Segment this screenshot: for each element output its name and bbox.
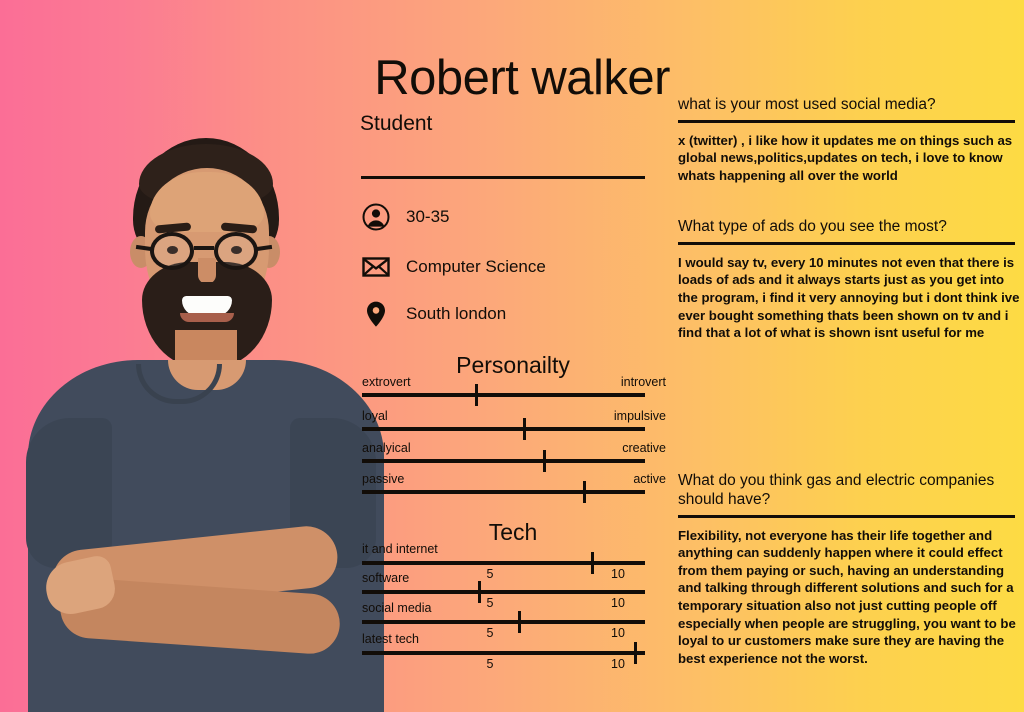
tech-mid-value: 5	[487, 657, 494, 671]
glasses-lens-left	[150, 232, 194, 270]
profile-role: Student	[360, 112, 432, 136]
question-block-utilities: What do you think gas and electric compa…	[678, 472, 1022, 667]
scale-track[interactable]	[362, 459, 645, 463]
scale-marker[interactable]	[523, 418, 526, 440]
detail-row-location: South london	[362, 300, 506, 328]
question-answer: I would say tv, every 10 minutes not eve…	[678, 254, 1022, 342]
tech-max-value: 10	[611, 626, 625, 640]
scale-right-label: creative	[622, 441, 666, 455]
scale-track[interactable]	[362, 393, 645, 397]
tech-max-value: 10	[611, 596, 625, 610]
scale-track[interactable]	[362, 490, 645, 494]
glasses-bridge	[194, 246, 214, 250]
mustache-shape	[180, 282, 234, 296]
scale-track[interactable]	[362, 590, 645, 594]
scale-track[interactable]	[362, 427, 645, 431]
scale-left-label: extrovert	[362, 375, 411, 389]
scale-right-label: introvert	[621, 375, 666, 389]
scale-right-label: active	[633, 472, 666, 486]
scale-marker[interactable]	[583, 481, 586, 503]
question-block-ads: What type of ads do you see the most? I …	[678, 218, 1022, 342]
detail-label-course: Computer Science	[406, 257, 546, 277]
scale-right-label: impulsive	[614, 409, 666, 423]
map-pin-icon	[362, 300, 390, 328]
scale-marker[interactable]	[543, 450, 546, 472]
portrait-photo	[0, 0, 400, 712]
tech-scale-label: social media	[362, 601, 431, 615]
tech-mid-value: 5	[487, 596, 494, 610]
nose-shape	[198, 258, 216, 284]
lower-lip-shape	[180, 313, 234, 322]
question-heading: What type of ads do you see the most?	[678, 218, 1022, 237]
question-divider	[678, 242, 1015, 245]
tech-mid-value: 5	[487, 567, 494, 581]
divider-under-name	[361, 176, 645, 179]
sleeve-left-shape	[26, 418, 112, 568]
person-illustration	[0, 0, 400, 712]
user-circle-icon	[362, 203, 390, 231]
question-heading: What do you think gas and electric compa…	[678, 472, 1022, 510]
tech-scale-numbers: 5 10	[362, 657, 645, 673]
question-divider	[678, 515, 1015, 518]
detail-row-age: 30-35	[362, 203, 449, 231]
question-block-social-media: what is your most used social media? x (…	[678, 96, 1022, 185]
tech-mid-value: 5	[487, 626, 494, 640]
envelope-icon	[362, 253, 390, 281]
detail-label-age: 30-35	[406, 207, 449, 227]
page-title: Robert walker	[360, 54, 670, 103]
question-divider	[678, 120, 1015, 123]
scale-left-label: loyal	[362, 409, 388, 423]
questions-column: what is your most used social media? x (…	[674, 0, 1024, 712]
glasses-lens-right	[214, 232, 258, 270]
tech-scale-label: latest tech	[362, 632, 419, 646]
tech-scale-label: it and internet	[362, 542, 438, 556]
profile-column: Robert walker Student 30-35 Computer Sci…	[352, 0, 674, 712]
scale-left-label: passive	[362, 472, 404, 486]
detail-label-location: South london	[406, 304, 506, 324]
scale-left-label: analyical	[362, 441, 411, 455]
scale-track[interactable]	[362, 620, 645, 624]
detail-row-course: Computer Science	[362, 253, 546, 281]
tech-max-value: 10	[611, 657, 625, 671]
tech-max-value: 10	[611, 567, 625, 581]
question-heading: what is your most used social media?	[678, 96, 1022, 115]
question-answer: Flexibility, not everyone has their life…	[678, 527, 1022, 667]
scale-track[interactable]	[362, 651, 645, 655]
tech-scale-label: software	[362, 571, 409, 585]
question-answer: x (twitter) , i like how it updates me o…	[678, 132, 1022, 185]
scale-marker[interactable]	[475, 384, 478, 406]
scale-track[interactable]	[362, 561, 645, 565]
